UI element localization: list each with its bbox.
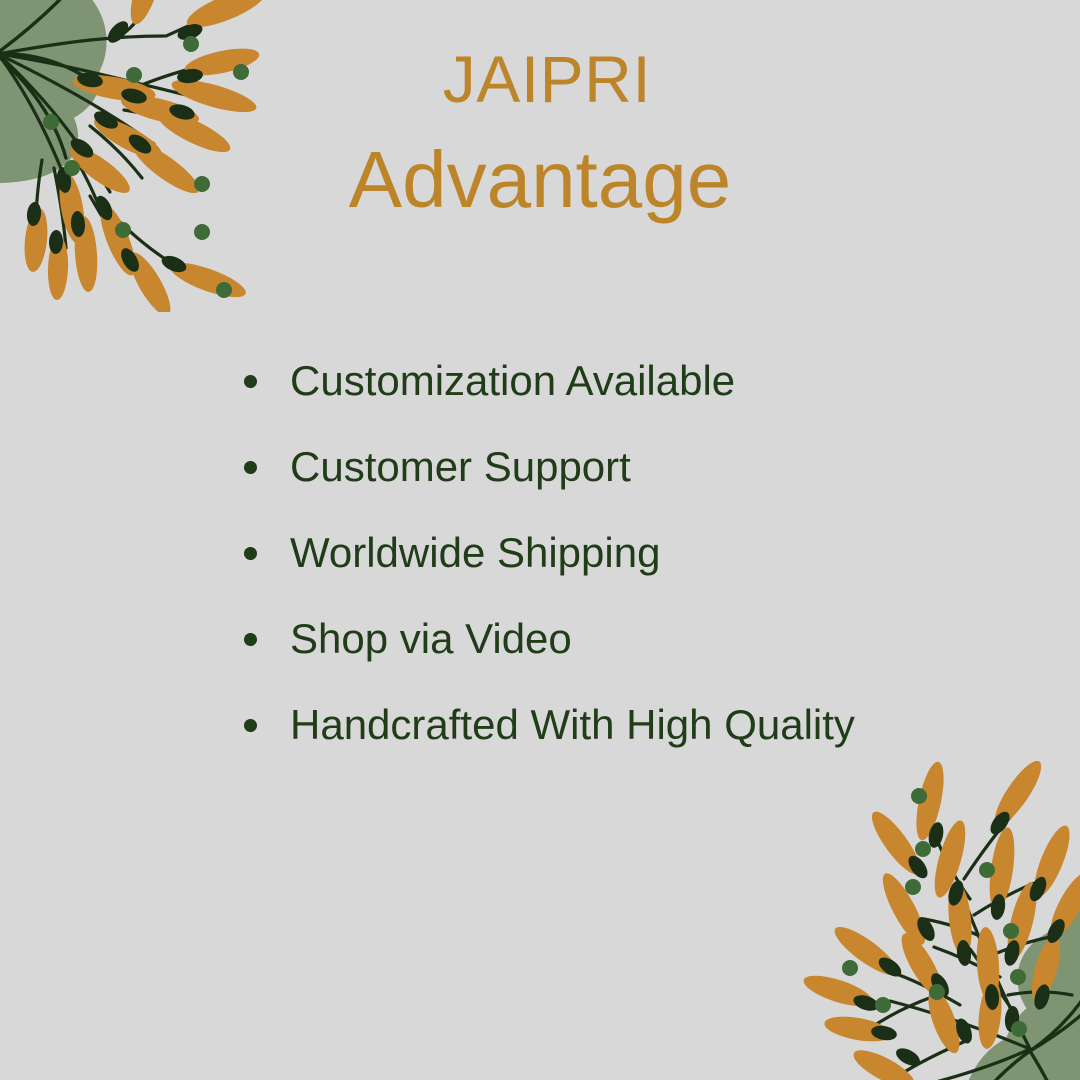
- title-brand: JAIPRI: [14, 46, 1080, 112]
- list-item: Handcrafted With High Quality: [244, 682, 964, 768]
- green-dots-icon: [842, 788, 1027, 1037]
- list-item: Customer Support: [244, 424, 964, 510]
- list-item: Worldwide Shipping: [244, 510, 964, 596]
- advantage-list: Customization Available Customer Support…: [244, 338, 964, 768]
- amber-sprigs-icon: [800, 755, 1080, 1080]
- advantage-label: Handcrafted With High Quality: [290, 702, 855, 748]
- poster-canvas: JAIPRI Advantage Customization Available…: [0, 0, 1080, 1080]
- advantage-label: Customization Available: [290, 358, 735, 404]
- leaf-veins-icon: [966, 951, 1080, 1080]
- sage-leaves-icon: [960, 894, 1080, 1080]
- advantage-label: Worldwide Shipping: [290, 530, 660, 576]
- bullet-dot-icon: [244, 633, 257, 646]
- advantage-label: Customer Support: [290, 444, 631, 490]
- bullet-dot-icon: [244, 547, 257, 560]
- bullet-dot-icon: [244, 375, 257, 388]
- list-item: Shop via Video: [244, 596, 964, 682]
- advantage-label: Shop via Video: [290, 616, 572, 662]
- page-title: JAIPRI Advantage: [0, 46, 1080, 220]
- title-word: Advantage: [0, 140, 1080, 220]
- list-item: Customization Available: [244, 338, 964, 424]
- bullet-dot-icon: [244, 461, 257, 474]
- botanical-bottom-right-decoration: [764, 739, 1080, 1080]
- bullet-dot-icon: [244, 719, 257, 732]
